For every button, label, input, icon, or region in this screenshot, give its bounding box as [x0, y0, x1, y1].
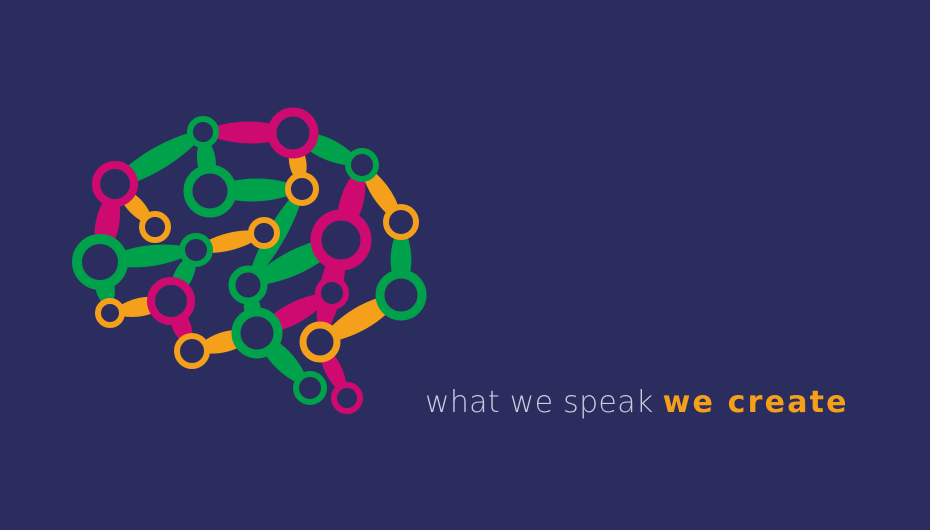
- logo-node: [236, 312, 278, 354]
- logo-link: [230, 179, 290, 202]
- logo-node: [272, 112, 314, 154]
- logo-node: [142, 214, 168, 240]
- tagline-bold-text: we create: [663, 388, 849, 418]
- logo-node: [190, 119, 216, 145]
- logo-node: [380, 274, 422, 316]
- slide-canvas: what we speak we create: [0, 0, 930, 530]
- logo-link: [214, 121, 274, 143]
- logo-node: [77, 239, 123, 285]
- logo-node: [288, 175, 316, 203]
- logo-node: [151, 281, 191, 321]
- logo-node: [334, 385, 360, 411]
- logo-node: [348, 151, 376, 179]
- brain-network-logo: [0, 0, 470, 470]
- logo-node: [251, 220, 277, 246]
- logo-node: [296, 374, 324, 402]
- brand-tagline: what we speak we create: [425, 388, 849, 432]
- brain-logo-svg: [0, 0, 470, 470]
- logo-node: [98, 301, 122, 325]
- logo-node: [96, 165, 134, 203]
- logo-node: [303, 325, 337, 359]
- logo-node: [177, 336, 207, 366]
- tagline-light-text: what we speak: [425, 388, 654, 418]
- logo-node: [188, 169, 232, 213]
- logo-node: [316, 215, 366, 265]
- logo-node: [232, 269, 264, 301]
- logo-node: [318, 279, 346, 307]
- logo-node: [386, 207, 416, 237]
- logo-link: [120, 245, 185, 268]
- logo-link: [206, 230, 254, 253]
- logo-node: [182, 236, 210, 264]
